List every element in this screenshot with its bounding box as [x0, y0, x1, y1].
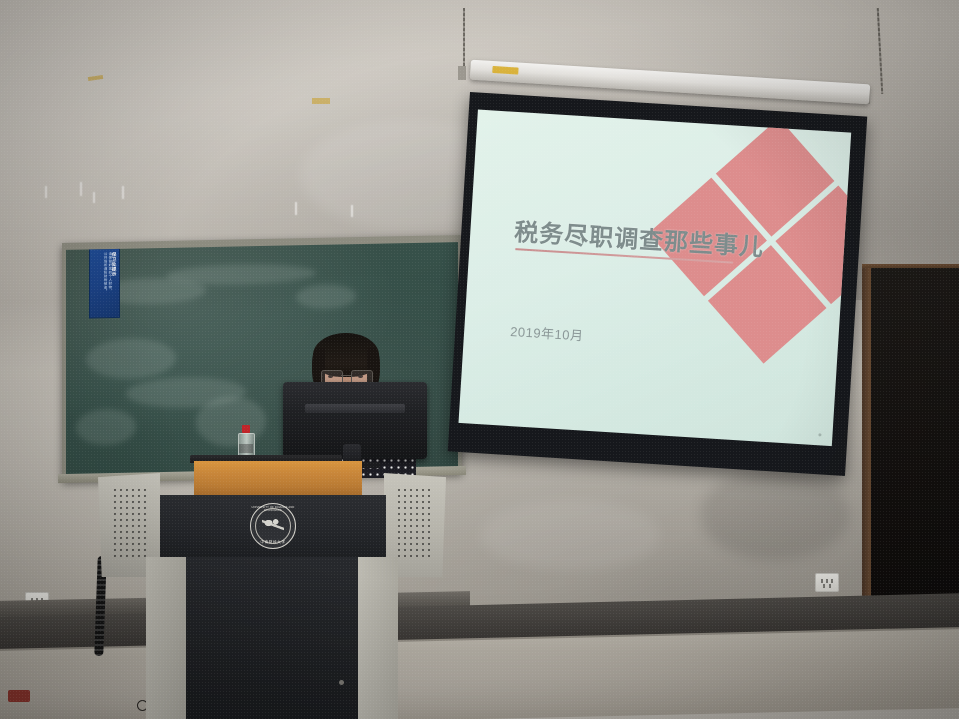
podium-latch[interactable]: [339, 680, 344, 685]
nail-mark: [93, 192, 95, 203]
nail-mark: [45, 186, 47, 198]
sign-line-2: 公共场所谨防财物被盗。: [102, 252, 106, 314]
screen-bracket-left: [458, 66, 466, 80]
wall-smudge: [480, 500, 660, 570]
computer-monitor[interactable]: [283, 382, 427, 459]
university-emblem: UNIVERSITY OF FINANCE AND ECONOMICS 中南财经…: [250, 503, 296, 549]
speaker-grille-icon: [396, 487, 432, 557]
emblem-chinese-text: 中南财经大学: [250, 540, 296, 545]
lecture-hall-photo: 保卫处提示 请保管好您的个人财物， 公共场所谨防财物被盗。 税务尽职调查那些事儿…: [0, 0, 959, 719]
case-warning-label: [492, 66, 518, 75]
emblem-crest-icon: [262, 515, 284, 535]
podium-upper-panel: UNIVERSITY OF FINANCE AND ECONOMICS 中南财经…: [160, 495, 386, 557]
glasses-bridge: [341, 375, 351, 376]
nail-mark: [80, 182, 82, 196]
sign-line-1: 请保管好您的个人财物，: [107, 252, 111, 314]
tape-mark: [312, 98, 330, 104]
wall-smudge: [700, 470, 850, 560]
red-object-on-floor: [8, 690, 30, 702]
wall-outlet-right[interactable]: [815, 573, 839, 592]
podium-front-panel: [186, 557, 358, 719]
slide-corner-marker: [818, 433, 821, 436]
bottle-label: [239, 444, 253, 453]
security-notice-sign: 保卫处提示 请保管好您的个人财物， 公共场所谨防财物被盗。: [89, 248, 120, 319]
podium-leg-right: [356, 557, 398, 719]
nail-mark: [351, 205, 353, 217]
slide-date: 2019年10月: [510, 321, 584, 345]
podium-wood-band: [194, 461, 362, 495]
screen-chain-left: [463, 8, 465, 74]
nail-mark: [295, 202, 297, 215]
sign-heading: 保卫处提示: [112, 252, 117, 314]
mouse-cursor-icon: [581, 238, 586, 245]
monitor-vent: [305, 404, 405, 413]
speaker-grille-icon: [112, 487, 148, 557]
projection-screen[interactable]: 税务尽职调查那些事儿 2019年10月: [448, 92, 868, 476]
emblem-english-text: UNIVERSITY OF FINANCE AND ECONOMICS: [250, 506, 296, 512]
slide-surface: 税务尽职调查那些事儿 2019年10月: [458, 110, 851, 447]
nail-mark: [122, 186, 124, 199]
podium-leg-left: [146, 557, 188, 719]
lectern-podium[interactable]: UNIVERSITY OF FINANCE AND ECONOMICS 中南财经…: [98, 455, 446, 719]
bottle-cap: [242, 425, 250, 433]
